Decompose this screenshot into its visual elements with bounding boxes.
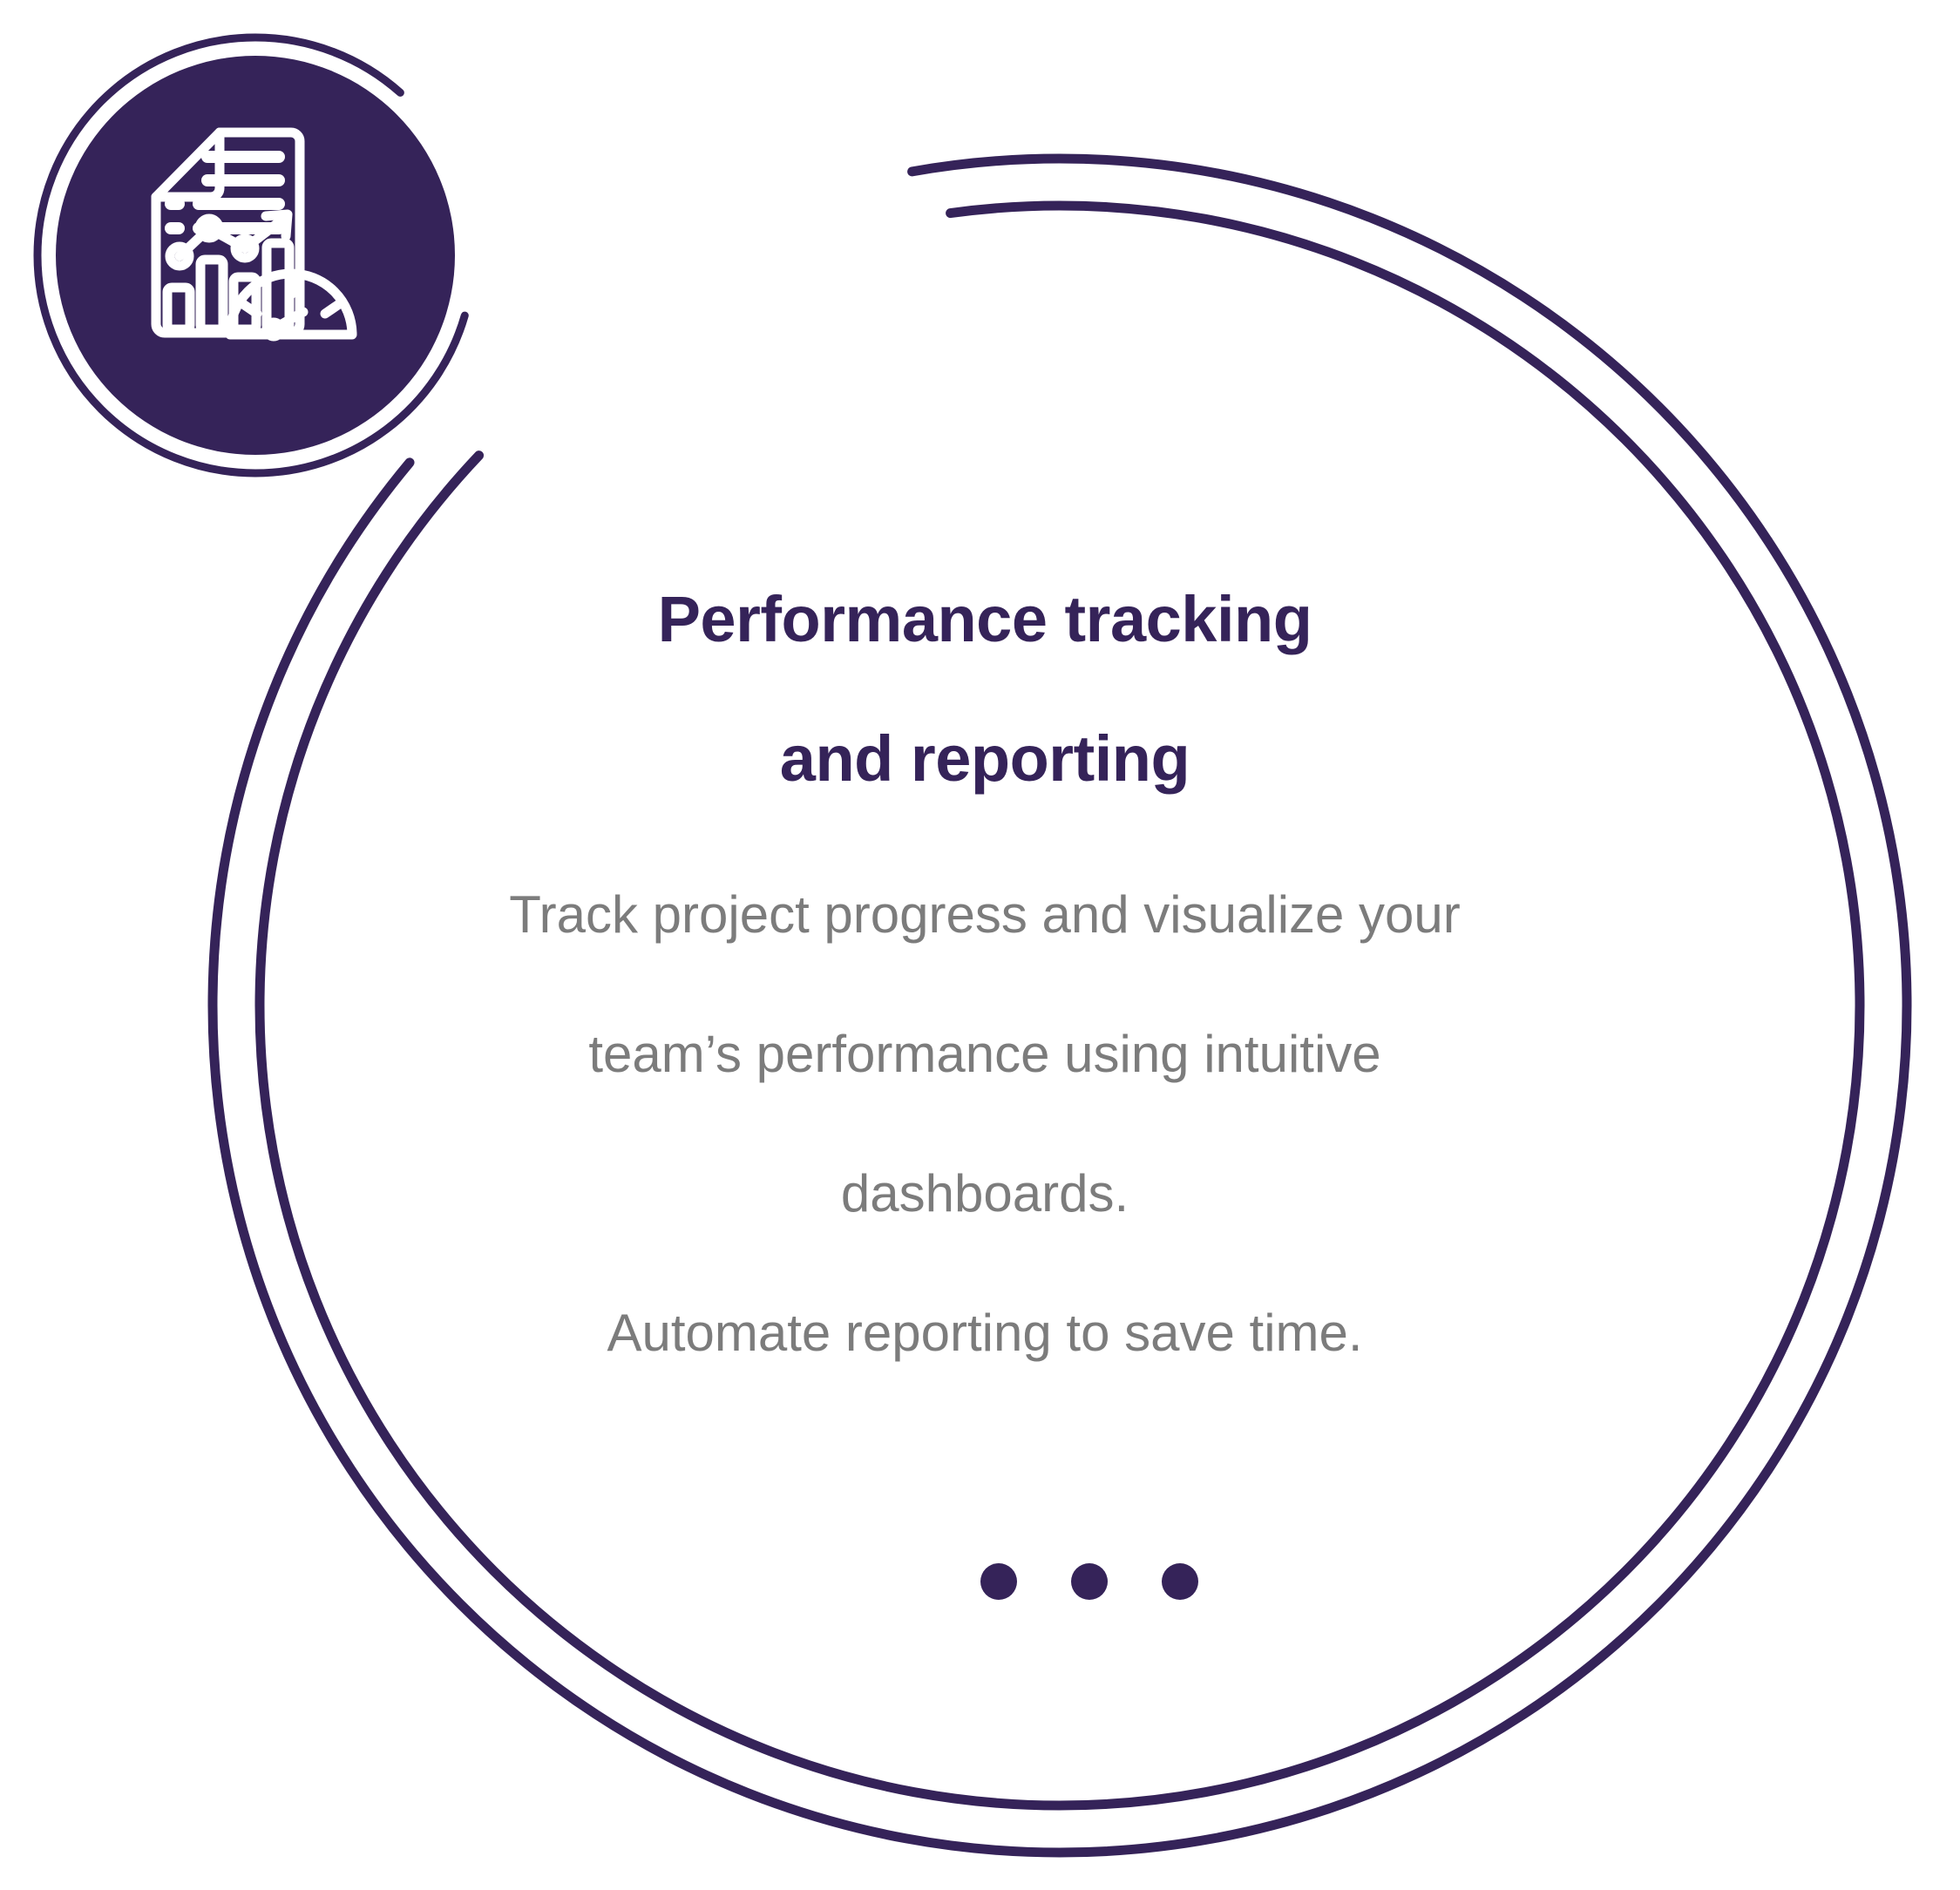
body-line-4: Automate reporting to save time.: [375, 1263, 1595, 1403]
body-line-1: Track project progress and visualize you…: [375, 845, 1595, 985]
page-title: Performance tracking and reporting: [375, 550, 1595, 829]
body-line-3: dashboards.: [375, 1124, 1595, 1263]
pagination-dot-1[interactable]: [980, 1563, 1017, 1600]
badge-group: [37, 37, 473, 473]
card-description: Track project progress and visualize you…: [375, 845, 1595, 1403]
title-line-1: Performance tracking: [375, 550, 1595, 689]
title-line-2: and reporting: [375, 689, 1595, 829]
pagination-dots[interactable]: [980, 1560, 1198, 1603]
feature-card-canvas: Performance tracking and reporting Track…: [0, 0, 1960, 1890]
pagination-dot-3[interactable]: [1162, 1563, 1198, 1600]
body-line-2: team’s performance using intuitive: [375, 985, 1595, 1124]
pagination-dot-2[interactable]: [1071, 1563, 1108, 1600]
